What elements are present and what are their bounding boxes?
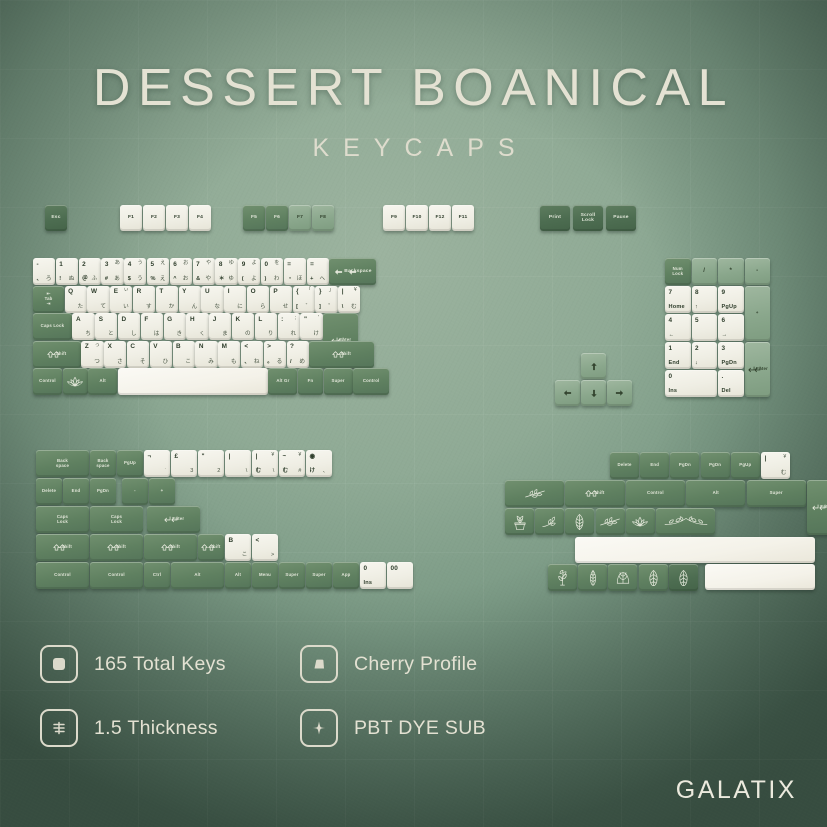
keycap-x-back-space[interactable]: Back space	[90, 450, 116, 477]
keycap-label: End	[63, 478, 89, 505]
keycap-label: F11	[452, 205, 474, 231]
keycap-f1[interactable]: F1	[120, 205, 142, 231]
keycap-label: Enter	[147, 506, 200, 533]
pinecone-icon	[565, 508, 594, 535]
keycap-label: Back space	[90, 450, 116, 477]
keycap-novelty-leaf-dark[interactable]	[669, 564, 698, 591]
keycap-legend-topright: っ	[81, 341, 103, 368]
keycap-label: Super	[324, 368, 353, 395]
keycap-sublegend: >	[252, 534, 278, 561]
keycap-np-dot[interactable]: .Del	[718, 370, 744, 397]
keycap-legend-topleft: ]	[315, 286, 337, 313]
keycap-np-9[interactable]: 9PgUp	[718, 286, 744, 313]
keycap-legend-topright: ¥	[761, 452, 790, 479]
keycap-num-7[interactable]: 7やや&	[193, 258, 215, 285]
keycap-num-0[interactable]: -ろ、	[33, 258, 55, 285]
keycap-x--[interactable]: -	[122, 478, 148, 505]
keycap-x-sym-8[interactable]: ~#¥む	[279, 450, 305, 477]
keycap-num-1[interactable]: 1ぬ!	[56, 258, 78, 285]
keycap-spacebar[interactable]	[118, 368, 268, 395]
keycap-sublegend: PgUp	[718, 286, 744, 313]
keycap-np-enter[interactable]: Enter	[745, 342, 771, 397]
keycap-spacebar-short[interactable]	[705, 564, 815, 590]
keycap-novelty-cactus[interactable]	[548, 564, 577, 591]
keycap-sublegend: せ	[270, 286, 292, 313]
keycap-shift-right[interactable]: Shift	[309, 341, 373, 368]
keycap-label: F8	[312, 205, 334, 231]
keycap-x-delete[interactable]: Delete	[36, 478, 62, 505]
keycap-num-12[interactable]: =へ+	[307, 258, 329, 285]
keycap-x-sym-4[interactable]: £3	[171, 450, 197, 477]
keycap-x[interactable]: Xさ	[104, 341, 126, 368]
keycap-esc[interactable]: Esc	[45, 205, 67, 231]
keycap-f3[interactable]: F3	[166, 205, 188, 231]
keycap-xr-end-1[interactable]: End	[640, 452, 669, 479]
keycap-xr-alt[interactable]: Alt	[686, 480, 745, 507]
keycap-m[interactable]: Mも	[218, 341, 240, 368]
keycap-sublegend: か	[156, 286, 178, 313]
keycap-x-0[interactable]: 0Ins	[360, 562, 386, 589]
keycap-novelty-olive-branch[interactable]	[656, 508, 715, 535]
keycap-control[interactable]: Control	[33, 368, 62, 395]
keycap-legend-topleft: &	[193, 258, 215, 285]
succulent-icon	[578, 564, 607, 591]
keycap-label: F5	[243, 205, 265, 231]
keycap-novelty-sprig[interactable]	[535, 508, 564, 535]
keycap-sublegend: は	[141, 313, 163, 340]
keycap-tab[interactable]: ⇤ Tab ⇥	[33, 286, 64, 313]
keycap-label: +	[149, 478, 175, 505]
keycap-x-shift-0[interactable]: Shift	[36, 534, 89, 561]
keycap-x-alt-3[interactable]: Alt	[171, 562, 224, 589]
keycap-x-alt-4[interactable]: Alt	[225, 562, 251, 589]
keycap-sublegend: そ	[127, 341, 149, 368]
keycap-xr-branch-icon[interactable]	[505, 480, 564, 507]
keycap-label: Alt	[686, 480, 745, 507]
keycap-label: F12	[429, 205, 451, 231]
keycap-xr-sym[interactable]: |む¥	[761, 452, 790, 479]
keycap-x-sym-9[interactable]: ◉、け	[306, 450, 332, 477]
feature-label: PBT DYE SUB	[354, 717, 486, 740]
keycap-sublegend: ↑	[692, 286, 718, 313]
keycap-pause[interactable]: Pause	[606, 205, 636, 231]
keycap-label: Enter	[807, 480, 827, 535]
keycap-f2[interactable]: F2	[143, 205, 165, 231]
keycap-{[interactable]: {゛「[	[293, 286, 315, 313]
keycap-label: Shift	[198, 534, 224, 561]
keycap-legend-topright: '	[300, 313, 322, 340]
keycap-p[interactable]: Pせ	[270, 286, 292, 313]
keycap-label: Fn	[298, 368, 323, 395]
keycap-legend-topleft: $	[124, 258, 146, 285]
keycap-x-menu-5[interactable]: Menu	[252, 562, 278, 589]
keycap-label: Enter	[745, 342, 771, 397]
keycap-novelty-leaf[interactable]	[639, 564, 668, 591]
keycap-np-3[interactable]: 3PgDn	[718, 342, 744, 369]
keycap-x-sym-6[interactable]: |\	[225, 450, 251, 477]
keycap-sublegend: な	[201, 286, 223, 313]
keycap-sublegend: Del	[718, 370, 744, 397]
keycap-x-sym-7[interactable]: |\¥む	[252, 450, 278, 477]
keycap-sublegend: `	[144, 450, 170, 477]
keycap-xr-pgdn-2[interactable]: PgDn	[670, 452, 699, 479]
keycap-legend-topleft: む	[252, 450, 278, 477]
keycap-np-0[interactable]: 0Ins	[665, 370, 717, 397]
keycap-x-app-8[interactable]: App	[333, 562, 359, 589]
keycap-num-4[interactable]: 4うう$	[124, 258, 146, 285]
keycap-sublegend: ち	[72, 313, 94, 340]
keycap-label: Control	[353, 368, 389, 395]
keycap-u[interactable]: Uな	[201, 286, 223, 313]
keycap-|[interactable]: |む¥\	[338, 286, 360, 313]
keycap-s[interactable]: Sと	[95, 313, 117, 340]
keycap-f8[interactable]: F8	[312, 205, 334, 231]
keycap-sublegend: き	[164, 313, 186, 340]
keycap-o[interactable]: Oら	[247, 286, 269, 313]
keycap-c[interactable]: Cそ	[127, 341, 149, 368]
keycap-x-sym-5[interactable]: "2	[198, 450, 224, 477]
keycap-f5[interactable]: F5	[243, 205, 265, 231]
arrow-down-icon	[581, 380, 606, 406]
keycap-w[interactable]: Wて	[87, 286, 109, 313]
keycap-np-2[interactable]: *	[718, 258, 744, 285]
keycap-label: Scroll Lock	[573, 205, 603, 231]
keycap-novelty-succulent[interactable]	[578, 564, 607, 591]
keycap-novelty-branch[interactable]	[596, 508, 625, 535]
keycap-x-ctrl-2[interactable]: Ctrl	[144, 562, 170, 589]
keycap-np-3[interactable]: -	[745, 258, 771, 285]
keycap-i[interactable]: Iに	[224, 286, 246, 313]
feature-material: PBT DYE SUB	[300, 709, 560, 747]
keycap-arrow-left[interactable]	[555, 380, 580, 406]
keycap-arrow-right[interactable]	[607, 380, 632, 406]
page-subtitle: KEYCAPS	[0, 134, 827, 163]
keycap-x-shift-1[interactable]: Shift	[90, 534, 143, 561]
keycap-np-4[interactable]: 4←	[665, 314, 691, 341]
keycap-q[interactable]: Qた	[65, 286, 87, 313]
keycap-label: *	[718, 258, 744, 285]
leaf-icon	[639, 564, 668, 591]
feature-label: Cherry Profile	[354, 653, 477, 676]
keycap-label: Ctrl	[144, 562, 170, 589]
keycap-fn[interactable]: Fn	[298, 368, 323, 395]
keycap-label: Caps Lock	[90, 506, 143, 533]
keycap-label: F9	[383, 205, 405, 231]
keycap-f4[interactable]: F4	[189, 205, 211, 231]
keycap-legend-topleft: (	[238, 258, 260, 285]
keycap-r[interactable]: Rす	[133, 286, 155, 313]
keycap-x-00[interactable]: 00	[387, 562, 413, 589]
keycap-t[interactable]: Tか	[156, 286, 178, 313]
keycap-f6[interactable]: F6	[266, 205, 288, 231]
keycap-:[interactable]: :れ;	[278, 313, 300, 340]
poster-header: DESSERT BOANICAL KEYCAPS	[0, 62, 827, 163]
keycap-x-shift-3[interactable]: Shift	[198, 534, 224, 561]
keycap-f12[interactable]: F12	[429, 205, 451, 231]
keycap-np-6[interactable]: 6→	[718, 314, 744, 341]
keycap-label: PgDn	[701, 452, 730, 479]
keycap-z[interactable]: Zつっ	[81, 341, 103, 368]
keycap-f11[interactable]: F11	[452, 205, 474, 231]
keycap-legend-topleft: ・	[284, 258, 306, 285]
keycap-label: Control	[90, 562, 143, 589]
keycap-x-super-6[interactable]: Super	[279, 562, 305, 589]
keycap-d[interactable]: Dし	[118, 313, 140, 340]
keycap-f9[interactable]: F9	[383, 205, 405, 231]
keycap-legend-topright: ぃ	[110, 286, 132, 313]
keycap-label: -	[745, 258, 771, 285]
keycap-sublegend: Home	[665, 286, 691, 313]
keycap-sublegend: り	[255, 313, 277, 340]
keycap-sublegend: み	[195, 341, 217, 368]
keycap-sublegend: →	[718, 314, 744, 341]
keycap-legend-topleft: [	[293, 286, 315, 313]
keycap-legend-topleft: \	[338, 286, 360, 313]
keycap-label: Caps Lock	[36, 506, 89, 533]
keycap-spacebar-long[interactable]	[575, 537, 815, 563]
keycap-x-end[interactable]: End	[63, 478, 89, 505]
keycap-label: Control	[36, 562, 89, 589]
keycap-num-3[interactable]: 3ああ#	[101, 258, 123, 285]
keycap-x-pgup[interactable]: PgUp	[117, 450, 143, 477]
keycap-np-8[interactable]: 8↑	[692, 286, 718, 313]
keycap-xr-delete-0[interactable]: Delete	[610, 452, 639, 479]
keycap-sym-9[interactable]: >る。	[264, 341, 286, 368]
keycap-n[interactable]: Nみ	[195, 341, 217, 368]
feature-row: 1.5 Thickness PBT DYE SUB	[40, 709, 560, 747]
dye-sub-sparkle-icon	[300, 709, 338, 747]
keycap-label: F7	[289, 205, 311, 231]
keycap-sublegend: て	[87, 286, 109, 313]
feature-total-keys: 165 Total Keys	[40, 645, 300, 683]
keycap-np-5[interactable]: 5	[692, 314, 718, 341]
keycap-num-2[interactable]: 2ふ＠	[79, 258, 101, 285]
keycap-sublegend: ↓	[692, 342, 718, 369]
keycap-sublegend: の	[232, 313, 254, 340]
keycap-np-1[interactable]: /	[692, 258, 718, 285]
keycap-f10[interactable]: F10	[406, 205, 428, 231]
keycap-x-b[interactable]: Bこ	[225, 534, 251, 561]
keycap-label: Shift	[309, 341, 373, 368]
sprig-icon	[535, 508, 564, 535]
keycap-xr-control[interactable]: Control	[626, 480, 685, 507]
keycap-label: +	[745, 286, 771, 341]
keycap-legend-topleft: )	[261, 258, 283, 285]
keycap-arrow-up[interactable]	[581, 353, 606, 379]
keycap-a[interactable]: Aち	[72, 313, 94, 340]
keycap-num-9[interactable]: 9よよ(	[238, 258, 260, 285]
keycap-novelty-pinecone[interactable]	[565, 508, 594, 535]
keycap-sym-10[interactable]: ?め/	[287, 341, 309, 368]
keycap-sublegend: ら	[247, 286, 269, 313]
keycap-xr-pgdn-3[interactable]: PgDn	[701, 452, 730, 479]
keycap-num-5[interactable]: 5ええ%	[147, 258, 169, 285]
olive-branch-icon	[656, 508, 715, 535]
keycap-label: Control	[33, 368, 62, 395]
keycap-xr-enter[interactable]: Enter	[807, 480, 827, 535]
keycap-sublegend: ←	[665, 314, 691, 341]
keycap-v[interactable]: Vひ	[150, 341, 172, 368]
keycap-legend-topleft: #	[101, 258, 123, 285]
keycap-x-super-7[interactable]: Super	[306, 562, 332, 589]
keycap-k[interactable]: Kの	[232, 313, 254, 340]
keycap-shift-left[interactable]: Shift	[33, 341, 81, 368]
keycap-control[interactable]: Control	[353, 368, 389, 395]
keycap-xr-super[interactable]: Super	[747, 480, 806, 507]
keycap-label: Alt	[171, 562, 224, 589]
keycap-label: /	[692, 258, 718, 285]
keycap-label: Control	[626, 480, 685, 507]
arrow-left-icon	[555, 380, 580, 406]
keycap-sublegend: ま	[209, 313, 231, 340]
keycap-legend: 5	[692, 314, 718, 341]
keycap-label: Backspace	[329, 258, 376, 285]
keycap-label: Back space	[36, 450, 89, 477]
keycap-legend-topleft: /	[287, 341, 309, 368]
keycap-sublegend: End	[665, 342, 691, 369]
feature-profile: Cherry Profile	[300, 645, 560, 683]
feature-list: 165 Total Keys Cherry Profile	[40, 645, 560, 773]
arrow-right-icon	[607, 380, 632, 406]
keycap-legend-topleft: ^	[170, 258, 192, 285]
page-title: DESSERT BOANICAL	[0, 62, 827, 114]
feature-row: 165 Total Keys Cherry Profile	[40, 645, 560, 683]
keycap-legend-topright: ;	[278, 313, 300, 340]
keycap-np-0[interactable]: Num Lock	[665, 258, 691, 285]
keycap-label: PgUp	[117, 450, 143, 477]
keycap-y[interactable]: Yん	[179, 286, 201, 313]
keycap-legend-topleft: け	[306, 450, 332, 477]
keycap-caps-lock[interactable]: Caps Lock	[33, 313, 72, 340]
feature-label: 165 Total Keys	[94, 653, 226, 676]
feature-label: 1.5 Thickness	[94, 717, 218, 740]
keycap-label: PgDn	[90, 478, 116, 505]
keycap-sublegend: 3	[171, 450, 197, 477]
keycap-f7[interactable]: F7	[289, 205, 311, 231]
keycap-label: Alt	[88, 368, 117, 395]
keycap-alt[interactable]: Alt	[88, 368, 117, 395]
keycap-sublegend: ん	[179, 286, 201, 313]
keycap-label: Alt Gr	[268, 368, 297, 395]
keycap-l[interactable]: Lり	[255, 313, 277, 340]
keycap-novelty-shrub[interactable]	[608, 564, 637, 591]
keycap-x-control-1[interactable]: Control	[90, 562, 143, 589]
keycap-g[interactable]: Gき	[164, 313, 186, 340]
keycap-}[interactable]: }゜」]	[315, 286, 337, 313]
keycap-label: Super	[279, 562, 305, 589]
keycap-num-10[interactable]: 0わを)	[261, 258, 283, 285]
keycap-label: Delete	[610, 452, 639, 479]
keycap-novelty-potted-plant[interactable]	[505, 508, 534, 535]
keycap-x-caps-lock-0[interactable]: Caps Lock	[36, 506, 89, 533]
keycap-np-+[interactable]: +	[745, 286, 771, 341]
keycap-num-11[interactable]: =ほ・	[284, 258, 306, 285]
keycap-f[interactable]: Fは	[141, 313, 163, 340]
keycap-"[interactable]: "け'	[300, 313, 322, 340]
keycap-xr-pgup-4[interactable]: PgUp	[731, 452, 760, 479]
keycap-legend-topleft: 、	[33, 258, 55, 285]
keycap-sublegend: に	[224, 286, 246, 313]
branch-icon	[596, 508, 625, 535]
keycap-alt-gr[interactable]: Alt Gr	[268, 368, 297, 395]
lotus-icon	[63, 368, 88, 395]
keycap-x-enter-2[interactable]: Enter	[147, 506, 200, 533]
keycap-sublegend: く	[186, 313, 208, 340]
lotus-icon	[626, 508, 655, 535]
keycap-sublegend: 2	[198, 450, 224, 477]
keycap-h[interactable]: Hく	[186, 313, 208, 340]
keycap-label: Menu	[252, 562, 278, 589]
cactus-icon	[548, 564, 577, 591]
keycap-sublegend: さ	[104, 341, 126, 368]
keycap-sublegend: す	[133, 286, 155, 313]
keycap-legend-topleft: %	[147, 258, 169, 285]
keycap-legend-topleft: ＊	[215, 258, 237, 285]
keycap-print[interactable]: Print	[540, 205, 570, 231]
keycap-sublegend: た	[65, 286, 87, 313]
keycap-label: Shift	[33, 341, 81, 368]
keycap-x-+[interactable]: +	[149, 478, 175, 505]
keycap-legend: 00	[387, 562, 413, 589]
keycap-label: -	[122, 478, 148, 505]
keycap-x-sym-3[interactable]: ¬`	[144, 450, 170, 477]
keycap-sublegend: Ins	[665, 370, 717, 397]
keycap-x-<[interactable]: <>	[252, 534, 278, 561]
keycap-e[interactable]: Eいぃ	[110, 286, 132, 313]
product-poster: DESSERT BOANICAL KEYCAPS EscF1F2F3F4F5F6…	[0, 0, 827, 827]
keycap-sublegend: \	[225, 450, 251, 477]
keycap-label: Shift	[90, 534, 143, 561]
keycap-sublegend: し	[118, 313, 140, 340]
keycap-xr-shift[interactable]: Shift	[565, 480, 624, 507]
keycap-j[interactable]: Jま	[209, 313, 231, 340]
keycap-label: F2	[143, 205, 165, 231]
keycap-np-7[interactable]: 7Home	[665, 286, 691, 313]
keycap-legend-topleft: 、	[241, 341, 263, 368]
keycap-legend-topleft: !	[56, 258, 78, 285]
keycap-sym-8[interactable]: <ね、	[241, 341, 263, 368]
rounded-square-icon	[40, 645, 78, 683]
keycap-label: Super	[747, 480, 806, 507]
keycap-num-8[interactable]: 8ゆゆ＊	[215, 258, 237, 285]
keycap-super[interactable]: Super	[324, 368, 353, 395]
keycap-sublegend: ひ	[150, 341, 172, 368]
keycap-b[interactable]: Bこ	[173, 341, 195, 368]
keycap-label: Esc	[45, 205, 67, 231]
keycap-arrow-down[interactable]	[581, 380, 606, 406]
keycap-label: Shift	[144, 534, 197, 561]
feature-thickness: 1.5 Thickness	[40, 709, 300, 747]
keycap-label: F6	[266, 205, 288, 231]
keycap-x-pgdn[interactable]: PgDn	[90, 478, 116, 505]
keycap-label: App	[333, 562, 359, 589]
keycap-np-1[interactable]: 1End	[665, 342, 691, 369]
keycap-scroll-lock[interactable]: Scroll Lock	[573, 205, 603, 231]
keycap-x-control-0[interactable]: Control	[36, 562, 89, 589]
keycap-label: Shift	[565, 480, 624, 507]
keycap-label: PgDn	[670, 452, 699, 479]
keycap-x-back-space[interactable]: Back space	[36, 450, 89, 477]
keycap-np-2[interactable]: 2↓	[692, 342, 718, 369]
keycap-backspace[interactable]: Backspace	[329, 258, 376, 285]
keycap-lotus-icon[interactable]	[63, 368, 88, 395]
keycap-label: Shift	[36, 534, 89, 561]
keycap-x-caps-lock-1[interactable]: Caps Lock	[90, 506, 143, 533]
potted-plant-icon	[505, 508, 534, 535]
keycap-x-shift-2[interactable]: Shift	[144, 534, 197, 561]
keycap-num-6[interactable]: 6おお^	[170, 258, 192, 285]
keycap-novelty-lotus[interactable]	[626, 508, 655, 535]
